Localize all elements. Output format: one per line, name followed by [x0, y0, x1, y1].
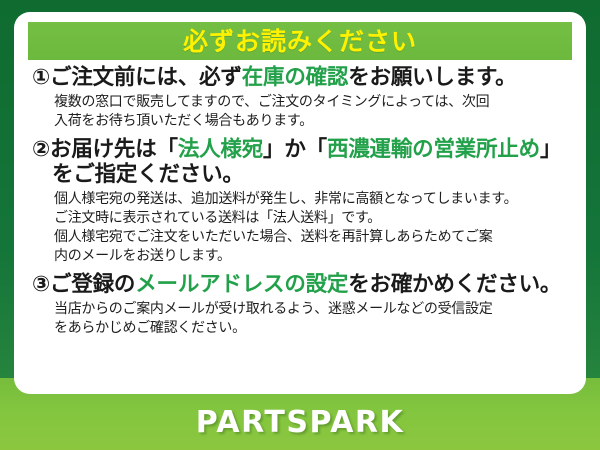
- highlighted-text: 法人様宛: [178, 137, 263, 162]
- notice-item-body: 個人様宅宛の発送は、追加送料が発生し、非常に高額となってしまいます。ご注文時に表…: [32, 190, 568, 266]
- notice-item-body-line: 個人様宅宛でご注文をいただいた場合、送料を再計算しあらためてご案: [54, 228, 568, 247]
- header-bar: 必ずお読みください: [28, 22, 572, 60]
- notice-items-list: ①ご注文前には、必ず在庫の確認をお願いします。複数の窓口で販売してますので、ご注…: [26, 66, 574, 338]
- notice-item-body: 当店からのご案内メールが受け取れるよう、迷惑メールなどの受信設定をあらかじめご確…: [32, 300, 568, 338]
- notice-item: ③ご登録のメールアドレスの設定をお確かめください。当店からのご案内メールが受け取…: [32, 273, 568, 338]
- notice-item-marker: ①: [32, 65, 50, 90]
- notice-item-body-line: 個人様宅宛の発送は、追加送料が発生し、非常に高額となってしまいます。: [54, 190, 568, 209]
- notice-item-body-line: 内のメールをお送りします。: [54, 247, 568, 266]
- heading-text: お届け先は「: [50, 137, 178, 162]
- notice-item: ①ご注文前には、必ず在庫の確認をお願いします。複数の窓口で販売してますので、ご注…: [32, 66, 568, 131]
- heading-text: をお願いします。: [348, 65, 516, 90]
- notice-item-heading-line2: をご指定ください。: [32, 163, 568, 188]
- heading-text: をお確かめください。: [348, 272, 561, 297]
- notice-item: ②お届け先は「法人様宛」か「西濃運輸の営業所止め」をご指定ください。個人様宅宛の…: [32, 138, 568, 266]
- notice-item-body-line: ご注文時に表示されている送料は「法人送料」です。: [54, 209, 568, 228]
- notice-item-body-line: 入荷をお待ち頂いただく場合もあります。: [54, 112, 568, 131]
- highlighted-text: 在庫の確認: [242, 65, 349, 90]
- notice-item-heading: ①ご注文前には、必ず在庫の確認をお願いします。: [32, 66, 568, 91]
- notice-item-body: 複数の窓口で販売してますので、ご注文のタイミングによっては、次回入荷をお待ち頂い…: [32, 93, 568, 131]
- notice-card: 必ずお読みください ①ご注文前には、必ず在庫の確認をお願いします。複数の窓口で販…: [14, 12, 586, 394]
- notice-item-marker: ②: [32, 137, 50, 162]
- highlighted-text: 西濃運輸の営業所止め: [327, 137, 540, 162]
- highlighted-text: メールアドレスの設定: [135, 272, 348, 297]
- notice-item-body-line: 当店からのご案内メールが受け取れるよう、迷惑メールなどの受信設定: [54, 300, 568, 319]
- heading-text: 」か「: [263, 137, 327, 162]
- notice-item-body-line: 複数の窓口で販売してますので、ご注文のタイミングによっては、次回: [54, 93, 568, 112]
- notice-item-heading: ③ご登録のメールアドレスの設定をお確かめください。: [32, 273, 568, 298]
- notice-item-body-line: をあらかじめご確認ください。: [54, 319, 568, 338]
- notice-item-heading: ②お届け先は「法人様宛」か「西濃運輸の営業所止め」: [32, 138, 568, 163]
- brand-logo-text: PARTSPARK: [196, 405, 405, 440]
- heading-text: 」: [540, 137, 561, 162]
- notice-item-marker: ③: [32, 272, 50, 297]
- footer: PARTSPARK: [0, 394, 600, 450]
- heading-text: ご注文前には、必ず: [50, 65, 242, 90]
- notice-banner: 必ずお読みください ①ご注文前には、必ず在庫の確認をお願いします。複数の窓口で販…: [0, 0, 600, 450]
- heading-text: ご登録の: [50, 272, 135, 297]
- page-title: 必ずお読みください: [183, 29, 417, 54]
